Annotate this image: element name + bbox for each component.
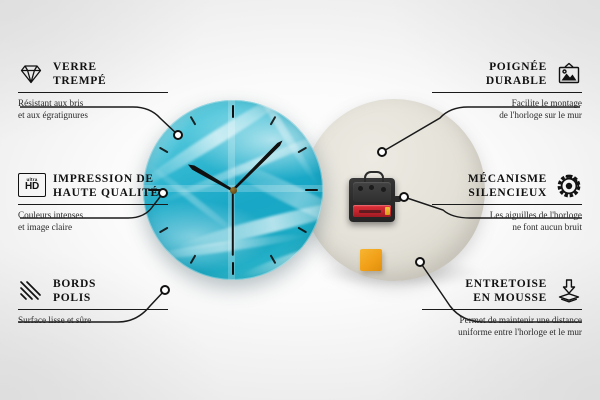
mechanism-battery: [353, 205, 391, 217]
diamond-icon: [18, 61, 44, 87]
feature-verre-trempe: VERRE TREMPÉ Résistant aux bris et aux é…: [18, 60, 168, 121]
clock-mechanism: [349, 178, 395, 222]
feature-desc-line2: et image claire: [18, 222, 168, 234]
ultra-hd-icon: ultra HD: [18, 173, 44, 199]
feature-rule: [18, 204, 168, 205]
gear-icon: [556, 173, 582, 199]
feature-title-line1: POIGNÉE: [486, 60, 547, 74]
feature-desc-line1: Couleurs intenses: [18, 210, 168, 222]
feature-desc-line2: ne font aucun bruit: [432, 222, 582, 234]
feature-rule: [18, 92, 168, 93]
battery-terminal: [385, 207, 390, 215]
feature-desc-line1: Permet de maintenir une distance: [422, 315, 582, 327]
feature-title-line1: VERRE: [53, 60, 106, 74]
second-hand: [232, 190, 234, 256]
feature-entretoise-en-mousse: ENTRETOISE EN MOUSSE Permet de maintenir…: [422, 277, 582, 338]
foam-spacer: [360, 249, 382, 271]
battery-label-band: [359, 210, 381, 213]
clock-tick: [305, 189, 318, 191]
mechanism-screw-mid: [369, 185, 374, 190]
feature-title-line2: EN MOUSSE: [465, 291, 547, 305]
feature-title-line2: HAUTE QUALITÉ: [53, 186, 159, 200]
feature-title-line1: BORDS: [53, 277, 96, 291]
feature-poignee-durable: POIGNÉE DURABLE Facilite le montage de l…: [432, 60, 582, 121]
feature-title-line2: SILENCIEUX: [468, 186, 547, 200]
feature-impression-haute-qualite: ultra HD IMPRESSION DE HAUTE QUALITÉ Cou…: [18, 172, 168, 233]
feature-title-line2: TREMPÉ: [53, 74, 106, 88]
wall-clock: [143, 100, 323, 280]
mechanism-shaft: [394, 196, 401, 202]
feature-title-line1: ENTRETOISE: [465, 277, 547, 291]
arrow-down-layers-icon: [556, 278, 582, 304]
feature-bords-polis: BORDS POLIS Surface lisse et sûre: [18, 277, 168, 327]
clock-center-pin: [230, 187, 237, 194]
feature-title-line1: MÉCANISME: [468, 172, 547, 186]
feature-title-line1: IMPRESSION DE: [53, 172, 159, 186]
feature-desc-line1: Surface lisse et sûre: [18, 315, 168, 327]
ultra-hd-icon-main-label: HD: [25, 182, 39, 192]
feature-rule: [422, 309, 582, 310]
clock-tick: [232, 262, 234, 275]
mechanism-face: [353, 182, 391, 202]
feature-title-line2: DURABLE: [486, 74, 547, 88]
feature-rule: [432, 204, 582, 205]
clock-tick: [232, 105, 234, 118]
feature-rule: [18, 309, 168, 310]
feature-desc-line1: Les aiguilles de l'horloge: [432, 210, 582, 222]
feature-desc-line2: et aux égratignures: [18, 110, 168, 122]
feature-desc-line2: uniforme entre l'horloge et le mur: [422, 327, 582, 339]
feature-desc-line1: Résistant aux bris: [18, 98, 168, 110]
picture-frame-hanger-icon: [556, 61, 582, 87]
feature-desc-line2: de l'horloge sur le mur: [432, 110, 582, 122]
feature-desc-line1: Facilite le montage: [432, 98, 582, 110]
mechanism-screw-right: [381, 187, 386, 192]
mechanism-screw-left: [358, 186, 363, 191]
feature-title-line2: POLIS: [53, 291, 96, 305]
feature-mecanisme-silencieux: MÉCANISME SILENCIEUX Les aiguilles de l'…: [432, 172, 582, 233]
diagonal-stripes-icon: [18, 278, 44, 304]
product-infographic: VERRE TREMPÉ Résistant aux bris et aux é…: [0, 0, 600, 400]
feature-rule: [432, 92, 582, 93]
